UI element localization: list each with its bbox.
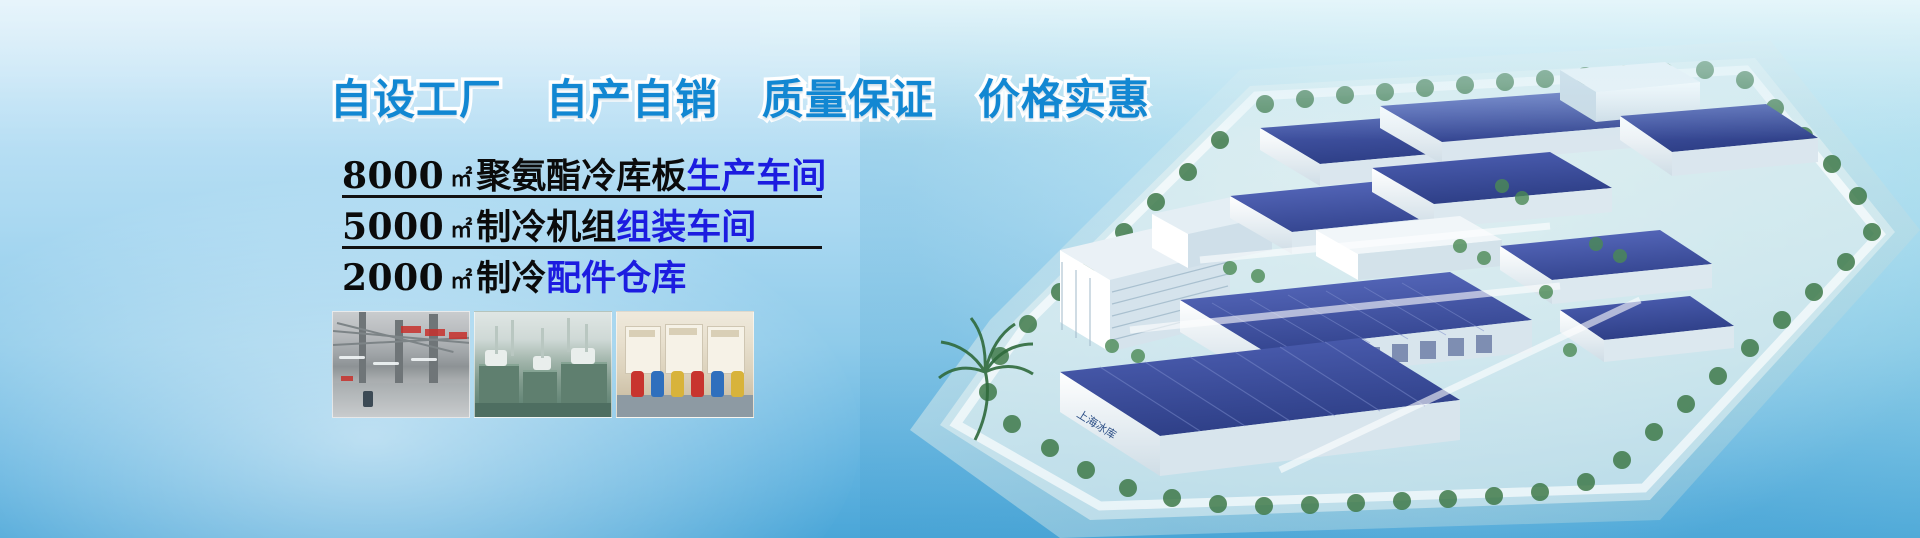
- spec-line-2-accent: 组装车间: [616, 210, 756, 245]
- spec-line-3: 2000 ㎡ 制冷 配件仓库: [342, 252, 822, 297]
- spec-line-2-number: 5000: [342, 209, 444, 245]
- svg-text:上海冰库: 上海冰库: [1074, 407, 1119, 442]
- headline-word-3: 质量保证: [762, 66, 934, 127]
- spec-line-2-unit: ㎡: [450, 219, 472, 241]
- spec-lines: 8000 ㎡ 聚氨酯冷库板 生产车间 5000 ㎡ 制冷机组 组装车间 2000…: [342, 150, 942, 300]
- spec-line-1-unit: ㎡: [450, 168, 472, 190]
- headline-word-2: 自产自销: [546, 66, 718, 127]
- refrigeration-units-photo: [474, 311, 612, 418]
- spec-line-3-unit: ㎡: [450, 270, 472, 292]
- spec-line-3-accent: 配件仓库: [546, 261, 686, 296]
- factory-interior-photo: [332, 311, 470, 418]
- spec-line-1: 8000 ㎡ 聚氨酯冷库板 生产车间: [342, 150, 822, 198]
- spec-line-1-main: 聚氨酯冷库板: [476, 159, 686, 194]
- spec-line-2: 5000 ㎡ 制冷机组 组装车间: [342, 201, 822, 249]
- promo-banner: 上海冰库: [0, 0, 1920, 538]
- spec-line-1-accent: 生产车间: [686, 159, 826, 194]
- parts-warehouse-photo: [616, 311, 754, 418]
- spec-line-1-number: 8000: [342, 158, 444, 194]
- spec-line-2-main: 制冷机组: [476, 210, 616, 245]
- headline: 自设工厂 自产自销 质量保证 价格实惠: [330, 68, 1030, 124]
- headline-word-1: 自设工厂: [330, 66, 502, 127]
- spec-line-3-number: 2000: [342, 260, 444, 296]
- headline-word-4: 价格实惠: [978, 66, 1150, 127]
- spec-line-3-main: 制冷: [476, 261, 546, 296]
- photo-strip: [332, 311, 754, 418]
